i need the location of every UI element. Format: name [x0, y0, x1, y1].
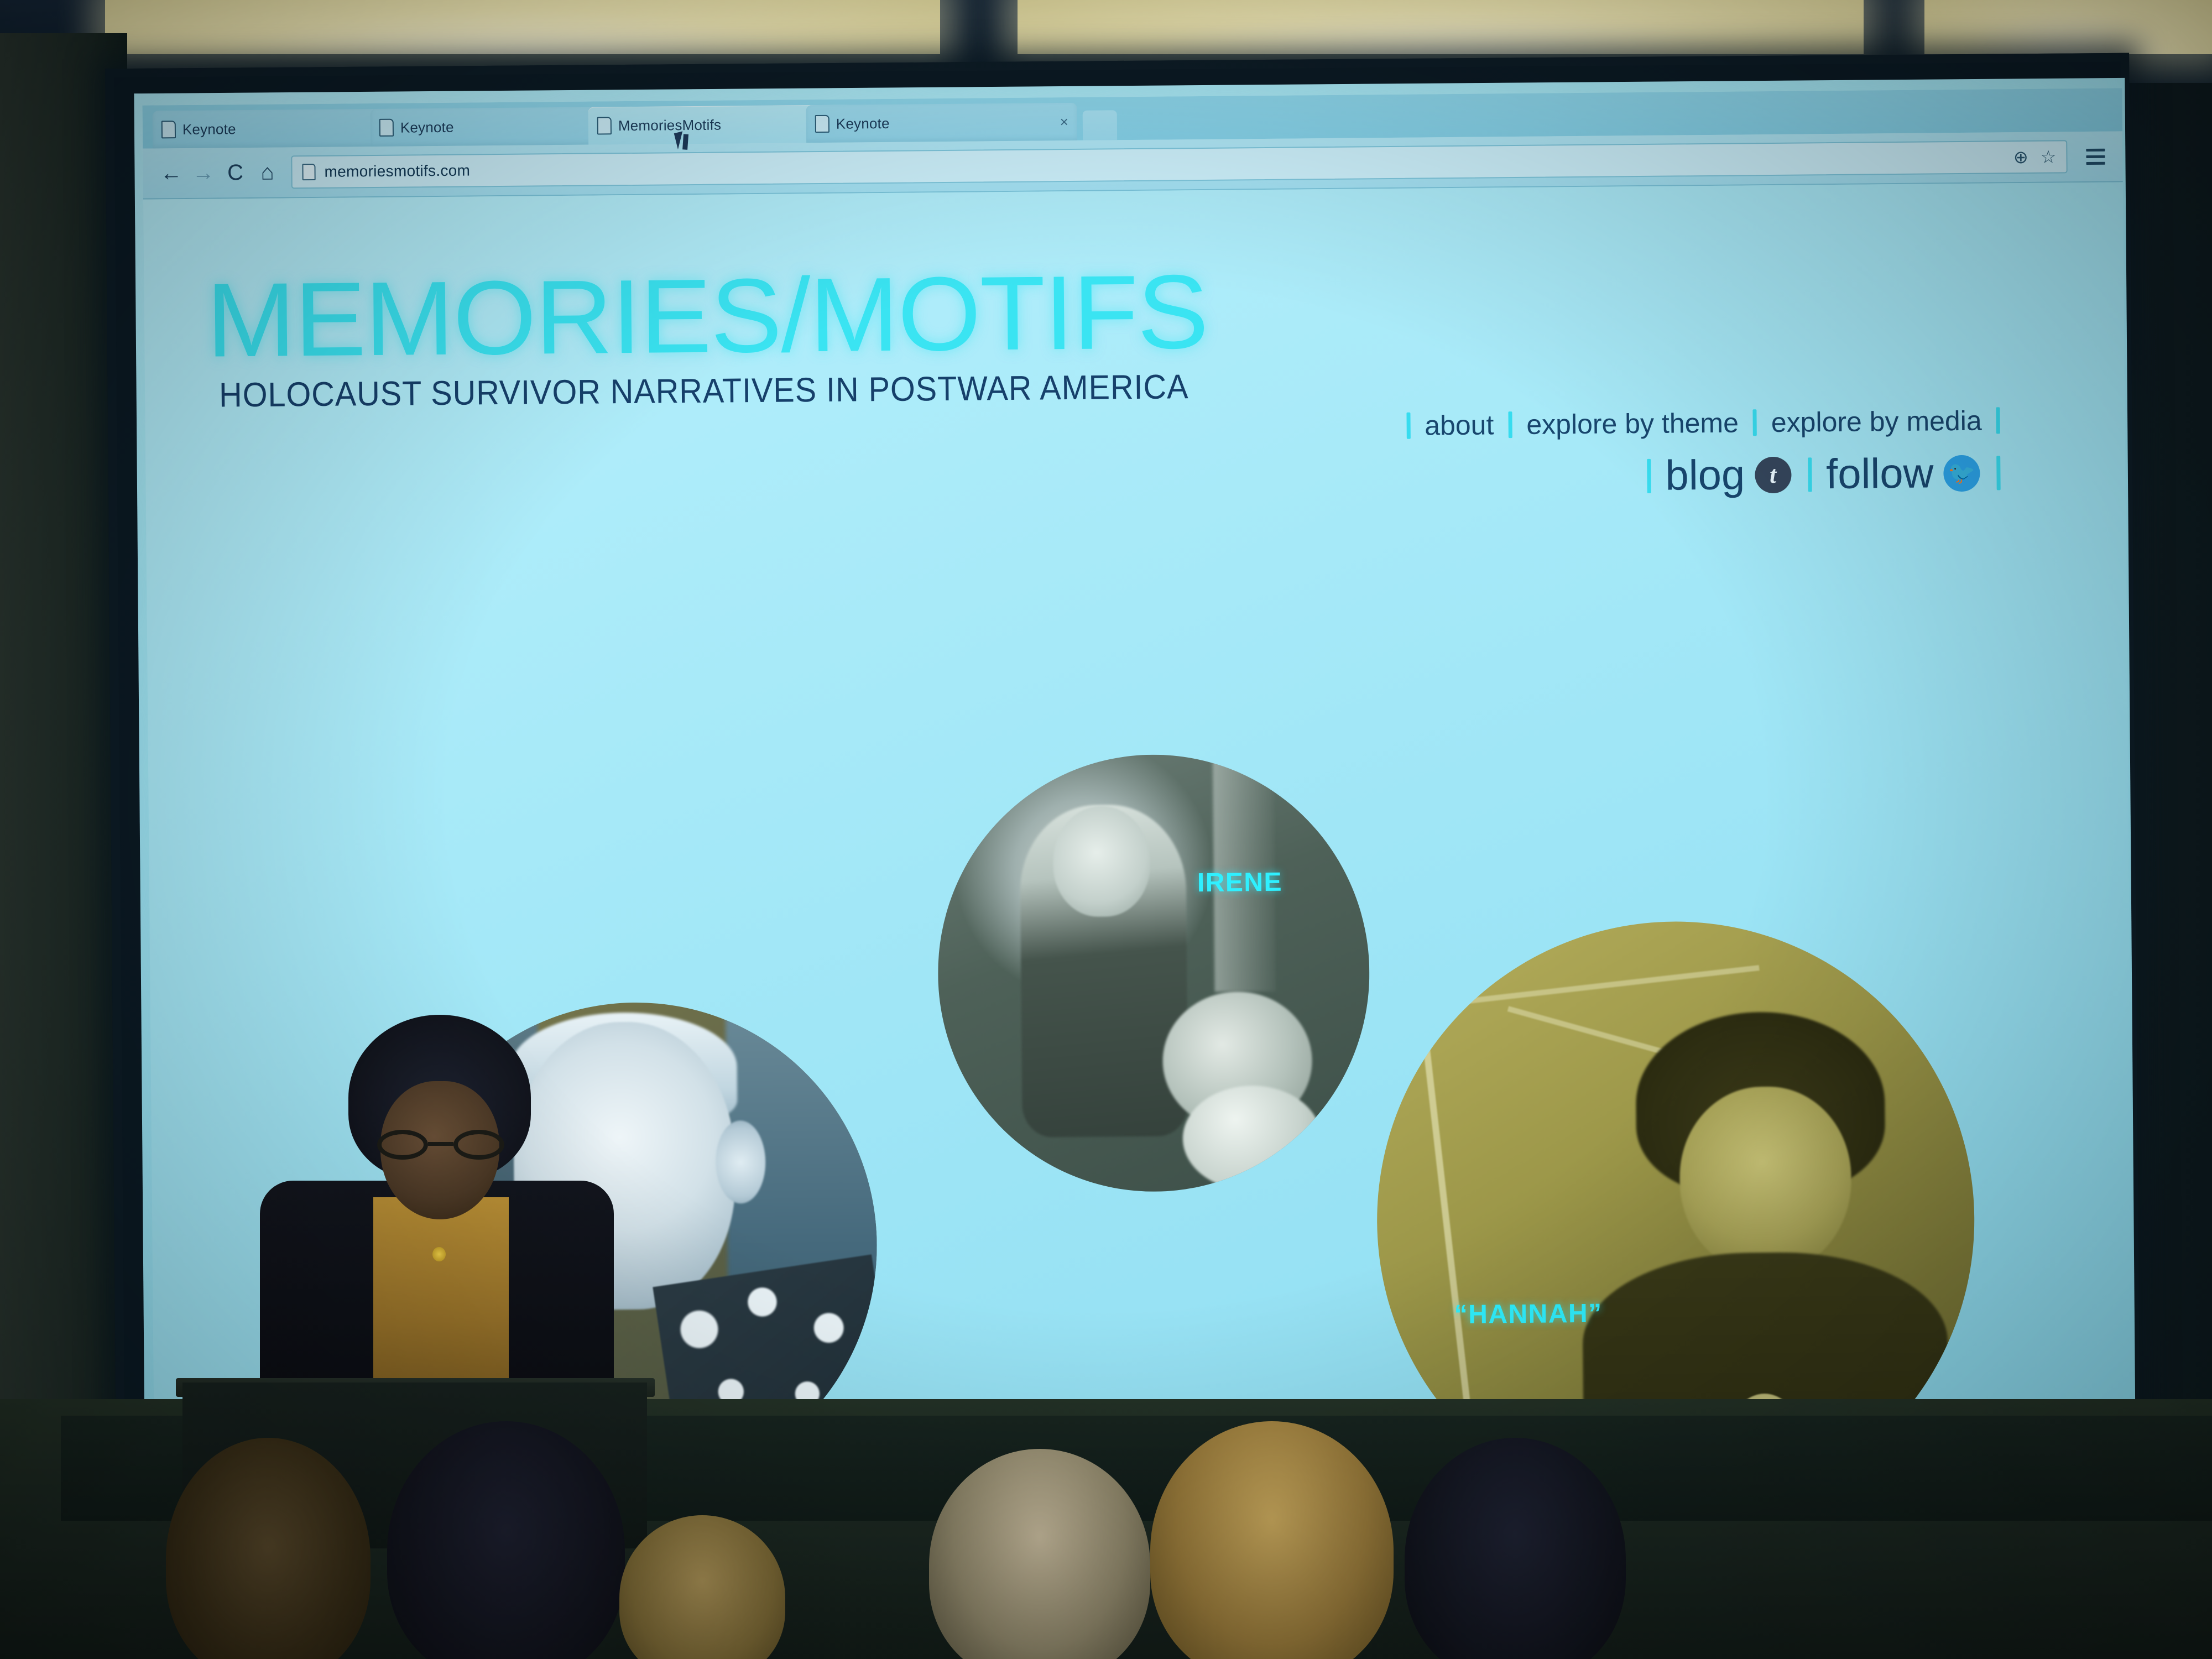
- tab-close-icon[interactable]: ×: [1060, 113, 1068, 131]
- address-bar[interactable]: memoriesmotifs.com ⊕ ☆: [291, 140, 2067, 189]
- nav-separator: [1808, 457, 1812, 492]
- portrait-face: [1679, 1086, 1852, 1276]
- nav-separator: [1406, 413, 1410, 439]
- portrait-circle-hannah[interactable]: “HANNAH”: [1375, 919, 1977, 1444]
- portrait-ear: [716, 1120, 766, 1204]
- new-tab-button[interactable]: [1083, 110, 1117, 140]
- forward-icon[interactable]: →: [187, 156, 220, 189]
- nav-separator: [1996, 407, 2000, 434]
- ceiling-light-1: [105, 0, 940, 54]
- page-favicon-document: [302, 164, 315, 180]
- tab-title: Keynote: [836, 113, 1053, 132]
- nav-link-blog[interactable]: blog: [1665, 451, 1745, 499]
- url-text: memoriesmotifs.com: [324, 161, 470, 180]
- nav-separator: [1508, 411, 1512, 438]
- nav-separator: [1996, 456, 2001, 490]
- page-subtitle: HOLOCAUST SURVIVOR NARRATIVES IN POSTWAR…: [219, 367, 1189, 415]
- tab-title: Keynote: [182, 119, 400, 138]
- presenter-necklace-pendant: [432, 1247, 446, 1261]
- ceiling-light-2: [1018, 0, 1864, 54]
- tab-title: MemoriesMotifs: [618, 115, 836, 134]
- nav-link-explore-by-theme[interactable]: explore by theme: [1526, 407, 1739, 441]
- nav-row-social: blog t follow 🐦: [1392, 448, 2015, 502]
- reload-icon[interactable]: C: [219, 156, 252, 189]
- portrait-label-hannah: “HANNAH”: [1454, 1298, 1602, 1330]
- nav-row-primary: about explore by theme explore by media: [1392, 404, 2015, 442]
- hamburger-menu-icon[interactable]: [2080, 140, 2111, 173]
- tumblr-icon[interactable]: t: [1755, 456, 1792, 493]
- presenter-blouse: [373, 1197, 509, 1402]
- nav-link-follow[interactable]: follow: [1826, 449, 1934, 498]
- bookmark-star-icon[interactable]: ☆: [2041, 146, 2057, 167]
- portrait-child-head: [1053, 806, 1151, 917]
- nav-separator: [1753, 409, 1757, 436]
- portrait-ball: [1182, 1085, 1322, 1191]
- site-navigation: about explore by theme explore by media …: [1392, 404, 2015, 502]
- page-title: MEMORIES/MOTIFS: [206, 259, 1208, 373]
- nav-link-about[interactable]: about: [1425, 409, 1494, 441]
- tab-favicon-document: [597, 117, 612, 134]
- nav-separator: [1647, 458, 1651, 493]
- presenter-speaker: [260, 1015, 614, 1402]
- tab-favicon-document: [161, 121, 176, 138]
- tab-favicon-document: [815, 115, 830, 133]
- tab-title: Keynote: [400, 117, 618, 136]
- portrait-label-irene: IRENE: [1197, 867, 1283, 898]
- omnibox-actions: ⊕ ☆: [2013, 146, 2057, 168]
- ceiling-light-3: [1924, 0, 2212, 54]
- portrait-circle-irene[interactable]: IRENE: [936, 753, 1371, 1193]
- back-icon[interactable]: ←: [155, 157, 187, 190]
- presenter-glasses: [377, 1130, 504, 1160]
- twitter-icon[interactable]: 🐦: [1943, 455, 1980, 492]
- lecture-room-scene: Keynote × Keynote × MemoriesMotifs × Key…: [0, 0, 2212, 1659]
- nav-link-explore-by-media[interactable]: explore by media: [1771, 405, 1982, 439]
- browser-tab-keynote-3[interactable]: Keynote ×: [806, 103, 1078, 143]
- zoom-icon[interactable]: ⊕: [2013, 147, 2028, 168]
- tab-favicon-document: [379, 119, 394, 137]
- home-icon[interactable]: ⌂: [251, 156, 284, 189]
